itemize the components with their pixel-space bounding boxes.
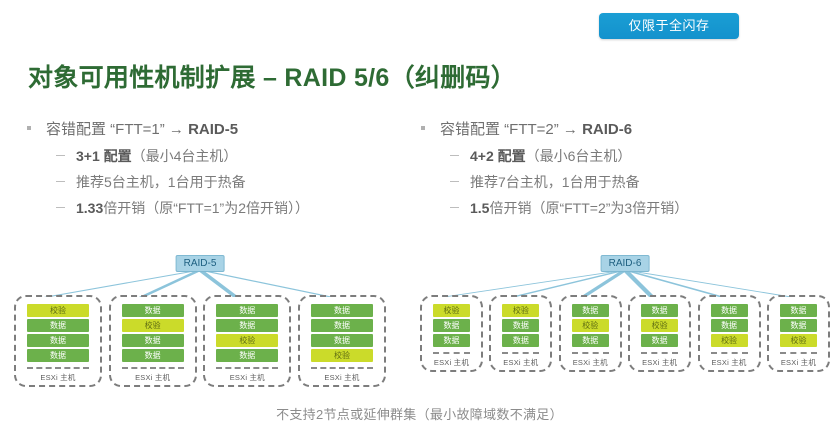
component-block-stack: 数据数据校验数据 <box>216 304 278 362</box>
esxi-host-label: ESXi 主机 <box>642 357 677 368</box>
data-block: 数据 <box>572 334 609 347</box>
host-divider <box>780 352 817 354</box>
connector-line <box>510 270 628 297</box>
bullet-square-icon <box>421 126 425 130</box>
esxi-host-label: ESXi 主机 <box>135 372 170 383</box>
data-block: 数据 <box>27 334 89 347</box>
sub-item-strong: 3+1 配置 <box>76 148 132 164</box>
host-divider <box>122 367 184 369</box>
esxi-host: 校验数据数据ESXi 主机 <box>489 295 552 372</box>
sub-item: 推荐5台主机，1台用于热备 <box>24 172 424 192</box>
bullet-heading-strong: RAID-6 <box>582 121 632 138</box>
all-flash-only-badge: 仅限于全闪存 <box>599 13 739 39</box>
data-block: 数据 <box>433 334 470 347</box>
esxi-host-label: ESXi 主机 <box>711 357 746 368</box>
data-block: 数据 <box>311 334 373 347</box>
esxi-host: 校验数据数据数据ESXi 主机 <box>14 295 102 387</box>
data-block: 数据 <box>502 334 539 347</box>
bullet-heading: 容错配置 “FTT=1” → RAID-5 <box>24 118 424 139</box>
connector-line <box>197 270 334 297</box>
esxi-host: 数据数据校验数据ESXi 主机 <box>203 295 291 387</box>
parity-block: 校验 <box>27 304 89 317</box>
component-block-stack: 校验数据数据 <box>502 304 539 347</box>
component-block-stack: 校验数据数据数据 <box>27 304 89 362</box>
esxi-host-label: ESXi 主机 <box>230 372 265 383</box>
parity-block: 校验 <box>502 304 539 317</box>
parity-block: 校验 <box>780 334 817 347</box>
esxi-host: 数据校验数据数据ESXi 主机 <box>109 295 197 387</box>
parity-block: 校验 <box>311 349 373 362</box>
parity-block: 校验 <box>572 319 609 332</box>
data-block: 数据 <box>311 319 373 332</box>
dash-icon <box>450 181 459 182</box>
data-block: 数据 <box>122 349 184 362</box>
dash-icon <box>56 155 65 156</box>
parity-block: 校验 <box>641 319 678 332</box>
data-block: 数据 <box>433 319 470 332</box>
host-divider <box>27 367 89 369</box>
data-block: 数据 <box>502 319 539 332</box>
sub-item-strong: 1.33 <box>76 200 103 216</box>
esxi-host-label: ESXi 主机 <box>503 357 538 368</box>
data-block: 数据 <box>27 349 89 362</box>
data-block: 数据 <box>641 334 678 347</box>
dash-icon <box>450 155 459 156</box>
sub-item: 1.5倍开销（原“FTT=2”为3倍开销） <box>418 198 818 218</box>
data-block: 数据 <box>711 319 748 332</box>
dash-icon <box>450 207 459 208</box>
connector-line <box>441 270 628 297</box>
raid5-label: RAID-5 <box>176 255 225 272</box>
connector-line <box>622 270 794 297</box>
dash-icon <box>56 181 65 182</box>
bullet-column-raid5: 容错配置 “FTT=1” → RAID-5 3+1 配置（最小4台主机） 推荐5… <box>24 118 424 224</box>
sub-item: 4+2 配置（最小6台主机） <box>418 146 818 166</box>
host-divider <box>711 352 748 354</box>
bullet-heading-prefix: 容错配置 “FTT=2” → <box>440 121 582 138</box>
esxi-host: 校验数据数据ESXi 主机 <box>420 295 483 372</box>
data-block: 数据 <box>711 304 748 317</box>
raid5-diagram: RAID-5 校验数据数据数据ESXi 主机数据校验数据数据ESXi 主机数据数… <box>14 255 386 395</box>
sub-item-rest: 推荐7台主机，1台用于热备 <box>470 174 640 190</box>
esxi-host-label: ESXi 主机 <box>324 372 359 383</box>
sub-item: 1.33倍开销（原“FTT=1”为2倍开销）） <box>24 198 424 218</box>
footer-note: 不支持2节点或延伸群集（最小故障域数不满足） <box>0 404 839 423</box>
data-block: 数据 <box>780 319 817 332</box>
raid5-host-row: 校验数据数据数据ESXi 主机数据校验数据数据ESXi 主机数据数据校验数据ES… <box>14 295 386 387</box>
esxi-host-label: ESXi 主机 <box>781 357 816 368</box>
component-block-stack: 数据校验数据数据 <box>122 304 184 362</box>
sub-item-strong: 4+2 配置 <box>470 148 526 164</box>
host-divider <box>641 352 678 354</box>
dash-icon <box>56 207 65 208</box>
sub-item: 推荐7台主机，1台用于热备 <box>418 172 818 192</box>
component-block-stack: 数据校验数据 <box>572 304 609 347</box>
bullet-square-icon <box>27 126 31 130</box>
parity-block: 校验 <box>216 334 278 347</box>
data-block: 数据 <box>122 334 184 347</box>
component-block-stack: 数据数据校验 <box>711 304 748 347</box>
esxi-host-label: ESXi 主机 <box>573 357 608 368</box>
data-block: 数据 <box>572 304 609 317</box>
raid6-label: RAID-6 <box>601 255 650 272</box>
sub-item: 3+1 配置（最小4台主机） <box>24 146 424 166</box>
connector-line <box>622 270 655 297</box>
data-block: 数据 <box>216 304 278 317</box>
sub-item-rest: （最小6台主机） <box>526 148 632 164</box>
data-block: 数据 <box>122 304 184 317</box>
bullet-heading-strong: RAID-5 <box>188 121 238 138</box>
raid6-host-row: 校验数据数据ESXi 主机校验数据数据ESXi 主机数据校验数据ESXi 主机数… <box>420 295 830 372</box>
host-divider <box>311 367 373 369</box>
esxi-host: 数据数据校验ESXi 主机 <box>698 295 761 372</box>
bullet-column-raid6: 容错配置 “FTT=2” → RAID-6 4+2 配置（最小6台主机） 推荐7… <box>418 118 818 224</box>
esxi-host: 数据数据校验ESXi 主机 <box>767 295 830 372</box>
host-divider <box>433 352 470 354</box>
raid6-diagram: RAID-6 校验数据数据ESXi 主机校验数据数据ESXi 主机数据校验数据E… <box>420 255 830 395</box>
data-block: 数据 <box>311 304 373 317</box>
host-divider <box>216 367 278 369</box>
parity-block: 校验 <box>122 319 184 332</box>
connector-line <box>197 270 239 297</box>
parity-block: 校验 <box>433 304 470 317</box>
sub-item-rest: 倍开销（原“FTT=2”为3倍开销） <box>489 200 688 216</box>
parity-block: 校验 <box>711 334 748 347</box>
connector-line <box>44 270 203 297</box>
sub-item-rest: （最小4台主机） <box>132 148 238 164</box>
data-block: 数据 <box>780 304 817 317</box>
esxi-host-label: ESXi 主机 <box>434 357 469 368</box>
data-block: 数据 <box>216 319 278 332</box>
component-block-stack: 数据数据校验 <box>780 304 817 347</box>
host-divider <box>572 352 609 354</box>
host-divider <box>502 352 539 354</box>
esxi-host: 数据数据数据校验ESXi 主机 <box>298 295 386 387</box>
connector-line <box>622 270 725 297</box>
data-block: 数据 <box>27 319 89 332</box>
bullet-heading-prefix: 容错配置 “FTT=1” → <box>46 121 188 138</box>
page-title: 对象可用性机制扩展 – RAID 5/6（纠删码） <box>28 58 516 94</box>
connector-line <box>139 270 203 297</box>
connector-line <box>580 270 628 297</box>
component-block-stack: 数据数据数据校验 <box>311 304 373 362</box>
component-block-stack: 校验数据数据 <box>433 304 470 347</box>
bullet-heading: 容错配置 “FTT=2” → RAID-6 <box>418 118 818 139</box>
sub-item-strong: 1.5 <box>470 200 489 216</box>
sub-item-rest: 倍开销（原“FTT=1”为2倍开销）） <box>103 200 309 216</box>
data-block: 数据 <box>641 304 678 317</box>
esxi-host: 数据校验数据ESXi 主机 <box>628 295 691 372</box>
component-block-stack: 数据校验数据 <box>641 304 678 347</box>
data-block: 数据 <box>216 349 278 362</box>
sub-item-rest: 推荐5台主机，1台用于热备 <box>76 174 246 190</box>
esxi-host: 数据校验数据ESXi 主机 <box>559 295 622 372</box>
esxi-host-label: ESXi 主机 <box>40 372 75 383</box>
